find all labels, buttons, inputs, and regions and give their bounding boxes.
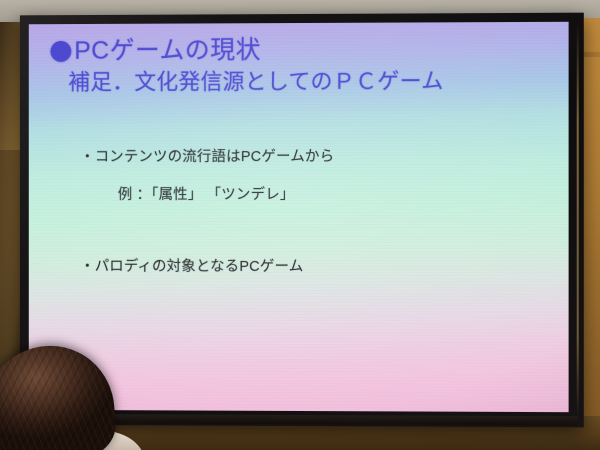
body-line-example: 例 ：「属性」 「ツンデレ」	[118, 185, 551, 203]
slide-subtitle: 補足．文化発信源としてのＰＣゲーム	[68, 69, 550, 95]
frame-edge-highlight	[577, 23, 579, 418]
filled-circle-bullet-icon	[51, 41, 72, 62]
slide-body: ・コンテンツの流行語はPCゲームから 例 ：「属性」 「ツンデレ」 ・パロディの…	[80, 148, 550, 276]
slide-content: PCゲームの現状 補足．文化発信源としてのＰＣゲーム ・コンテンツの流行語はPC…	[29, 22, 569, 412]
conference-room-photo: PCゲームの現状 補足．文化発信源としてのＰＣゲーム ・コンテンツの流行語はPC…	[0, 0, 600, 450]
projected-slide: PCゲームの現状 補足．文化発信源としてのＰＣゲーム ・コンテンツの流行語はPC…	[29, 22, 569, 412]
body-line-bullet-2: ・パロディの対象となるPCゲーム	[80, 257, 550, 276]
slide-title-row: PCゲームの現状	[51, 36, 551, 64]
body-line-bullet-1: ・コンテンツの流行語はPCゲームから	[80, 148, 550, 167]
projector-screen-frame: PCゲームの現状 補足．文化発信源としてのＰＣゲーム ・コンテンツの流行語はPC…	[20, 13, 584, 428]
slide-title: PCゲームの現状	[74, 37, 261, 64]
